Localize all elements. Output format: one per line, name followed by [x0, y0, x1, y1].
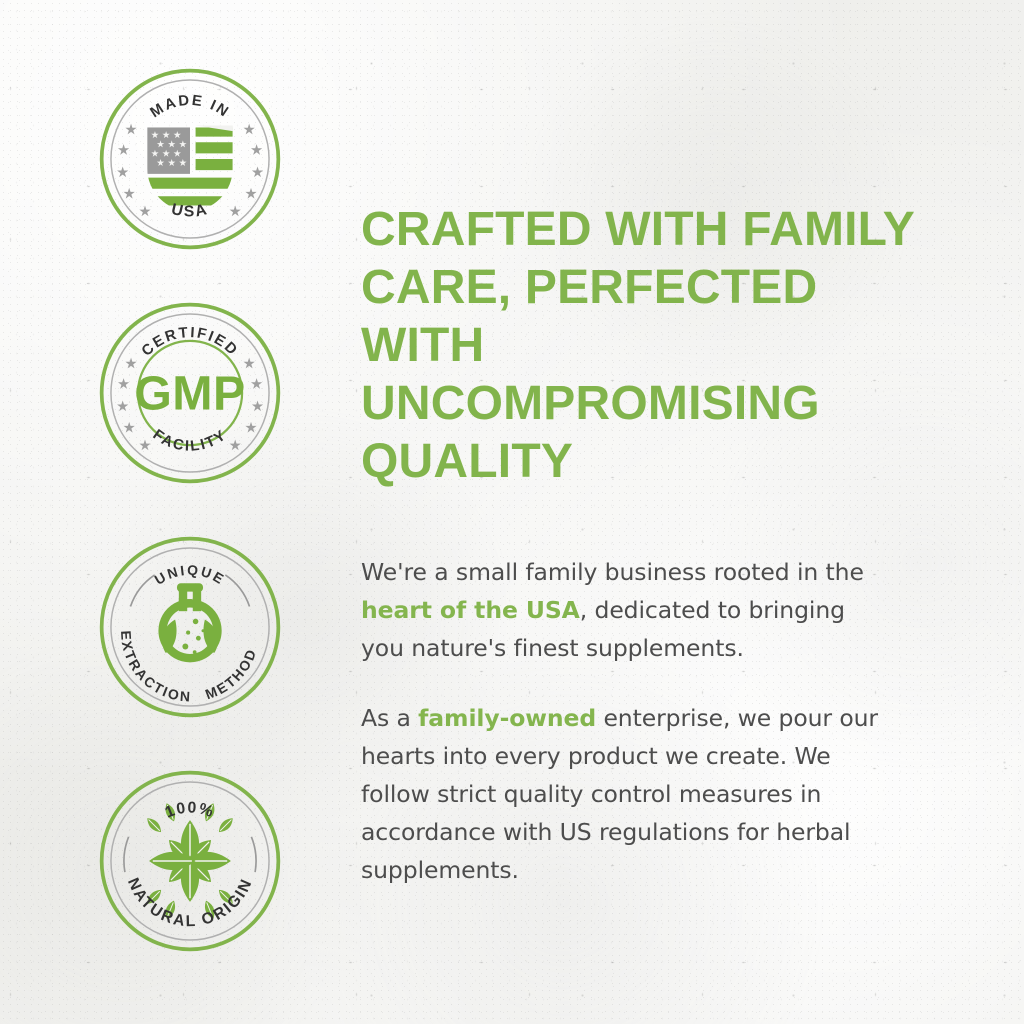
- badge-accent-arc-right: [251, 837, 256, 872]
- badge-accent-arc-left: [124, 837, 129, 872]
- badge-natural-origin: 100% NATURAL ORIGIN: [97, 768, 283, 954]
- badge-accent-arc-right: [225, 575, 249, 607]
- badge-gmp-certified: GMP CERTIFIED FACILITY: [97, 300, 283, 486]
- emphasis-text: heart of the USA: [361, 596, 580, 624]
- body-text: We're a small family business rooted in …: [361, 558, 864, 586]
- emphasis-text: family-owned: [418, 704, 596, 732]
- badge-top-label: CERTIFIED: [139, 325, 241, 360]
- paragraph-2: As a family-owned enterprise, we pour ou…: [361, 699, 881, 889]
- badge-accent-arc-left: [130, 575, 154, 607]
- body-text: As a: [361, 704, 418, 732]
- body-copy: We're a small family business rooted in …: [361, 553, 881, 889]
- badge-made-in-usa: MADE IN USA: [97, 66, 283, 252]
- badge-unique-extraction-method: UNIQUE EXTRACTION METHOD: [97, 534, 283, 720]
- trust-badge-column: MADE IN USA: [97, 66, 287, 1002]
- paragraph-1: We're a small family business rooted in …: [361, 553, 881, 667]
- usa-flag-roundel-icon: [145, 126, 234, 206]
- badge-bottom-label: FACILITY: [150, 427, 231, 455]
- flask-leaves-icon: [158, 583, 221, 662]
- content-column: CRAFTED WITH FAMILY CARE, PERFECTED WITH…: [361, 201, 921, 889]
- badge-bottom-label: USA: [170, 201, 211, 221]
- promo-panel: MADE IN USA: [0, 0, 1024, 1024]
- badge-top-label: 100%: [163, 799, 217, 821]
- gmp-seal-icon: GMP: [134, 367, 246, 421]
- badge-top-label: MADE IN: [148, 93, 233, 122]
- page-title: CRAFTED WITH FAMILY CARE, PERFECTED WITH…: [361, 201, 921, 491]
